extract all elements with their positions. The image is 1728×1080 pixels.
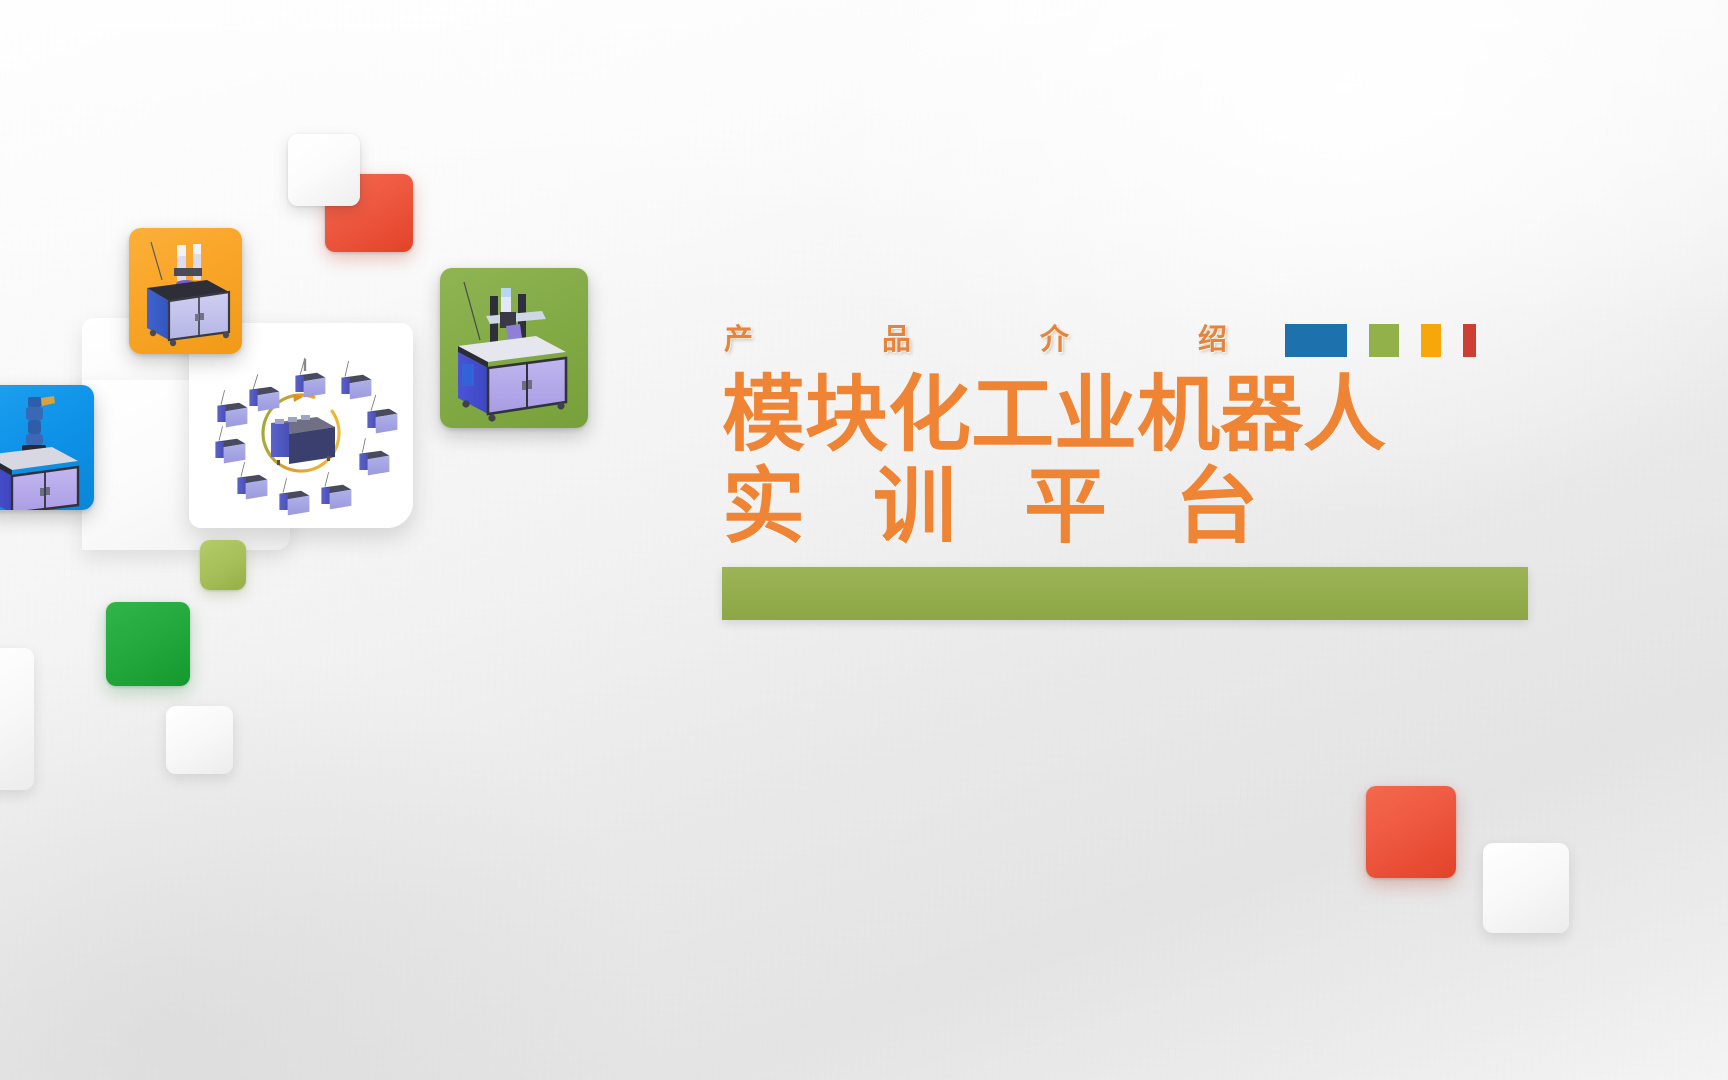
eyebrow-text: 产 品 介 绍	[722, 326, 1277, 355]
slide-root: 产 品 介 绍 模块化工业机器人 实训平台	[0, 0, 1728, 1080]
swatch-row	[1285, 324, 1476, 357]
tile-green-machine	[440, 268, 588, 428]
orange-machine-graphic	[129, 228, 242, 354]
square-white-bottom	[1483, 843, 1569, 933]
headline-line-2: 实训平台	[722, 462, 1528, 552]
square-white-top	[288, 134, 360, 206]
headline-line-1: 模块化工业机器人	[722, 370, 1528, 460]
green-machine-graphic	[440, 268, 588, 428]
swatch-orange	[1421, 324, 1441, 357]
square-white-left-edge	[0, 648, 34, 790]
swatch-red	[1463, 324, 1476, 357]
square-red-bottom	[1366, 786, 1456, 878]
title-block: 产 品 介 绍 模块化工业机器人 实训平台	[722, 316, 1528, 620]
tile-orange-machine	[129, 228, 242, 354]
accent-bar	[722, 567, 1528, 620]
eyebrow-row: 产 品 介 绍	[722, 316, 1528, 364]
swatch-blue	[1285, 324, 1347, 357]
swatch-green	[1369, 324, 1399, 357]
tile-blue-machine	[0, 385, 94, 510]
square-olive-mid	[200, 540, 246, 590]
blue-machine-graphic	[0, 385, 94, 510]
square-green-large	[106, 602, 190, 686]
square-white-lower	[166, 706, 233, 774]
